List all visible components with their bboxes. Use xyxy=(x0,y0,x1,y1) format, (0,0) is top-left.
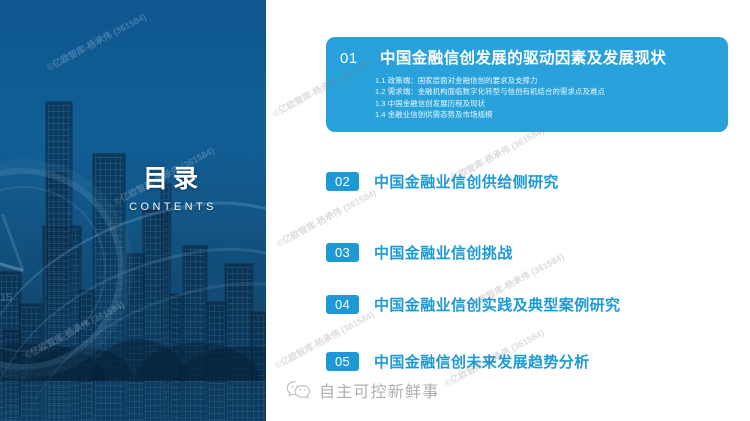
toc-number-02: 02 xyxy=(326,172,359,191)
watermark: ©亿欧智库-杨承伟 (361584) xyxy=(274,186,378,250)
toc-subitem[interactable]: 1.2 需求端：金融机构面临数字化转型与信创有机结合的需求点及难点 xyxy=(375,86,728,97)
toc-subitem[interactable]: 1.4 金融业信创供需态势及市场规模 xyxy=(375,109,728,120)
toc-number-04: 04 xyxy=(326,295,359,314)
toc-title-02: 中国金融业信创供给侧研究 xyxy=(374,171,559,192)
toc-title-04: 中国金融业信创实践及典型案例研究 xyxy=(374,294,620,315)
toc-subitem[interactable]: 1.1 政策端：国家层面对金融信创的要求及支撑力 xyxy=(375,75,728,86)
toc-subitem-list-01: 1.1 政策端：国家层面对金融信创的要求及支撑力 1.2 需求端：金融机构面临数… xyxy=(375,75,728,121)
toc-item-03[interactable]: 03 中国金融业信创挑战 xyxy=(326,241,513,263)
toc-item-02[interactable]: 02 中国金融业信创供给侧研究 xyxy=(326,170,559,192)
toc-content-panel: 01 中国金融信创发展的驱动因素及发展现状 1.1 政策端：国家层面对金融信创的… xyxy=(266,0,750,421)
hero-text-block: 目录 CONTENTS xyxy=(98,166,248,213)
page-subtitle: CONTENTS xyxy=(98,201,248,213)
toc-number-01: 01 xyxy=(340,50,380,67)
toc-number-05: 05 xyxy=(326,352,359,371)
toc-title-05: 中国金融信创未来发展趋势分析 xyxy=(374,351,590,372)
toc-item-01-header: 01 中国金融信创发展的驱动因素及发展现状 xyxy=(326,37,728,68)
toc-item-05[interactable]: 05 中国金融信创未来发展趋势分析 xyxy=(326,350,590,372)
footer-brand-label: 自主可控新鲜事 xyxy=(319,378,439,402)
hero-image-panel: 60 5 15 20 25 30 目录 CONTENTS ©亿欧智库-杨承伟 (… xyxy=(0,0,266,421)
toc-item-01[interactable]: 01 中国金融信创发展的驱动因素及发展现状 1.1 政策端：国家层面对金融信创的… xyxy=(326,37,728,132)
toc-number-03: 03 xyxy=(326,243,359,262)
toc-subitem[interactable]: 1.3 中国金融信创发展历程及现状 xyxy=(375,98,728,109)
slide-canvas: 60 5 15 20 25 30 目录 CONTENTS ©亿欧智库-杨承伟 (… xyxy=(0,0,750,421)
wechat-icon xyxy=(286,380,312,400)
toc-title-03: 中国金融业信创挑战 xyxy=(374,242,513,263)
toc-item-04[interactable]: 04 中国金融业信创实践及典型案例研究 xyxy=(326,293,620,315)
toc-title-01: 中国金融信创发展的驱动因素及发展现状 xyxy=(380,46,666,68)
footer-brand[interactable]: 自主可控新鲜事 xyxy=(286,378,439,402)
page-title: 目录 xyxy=(98,166,248,194)
